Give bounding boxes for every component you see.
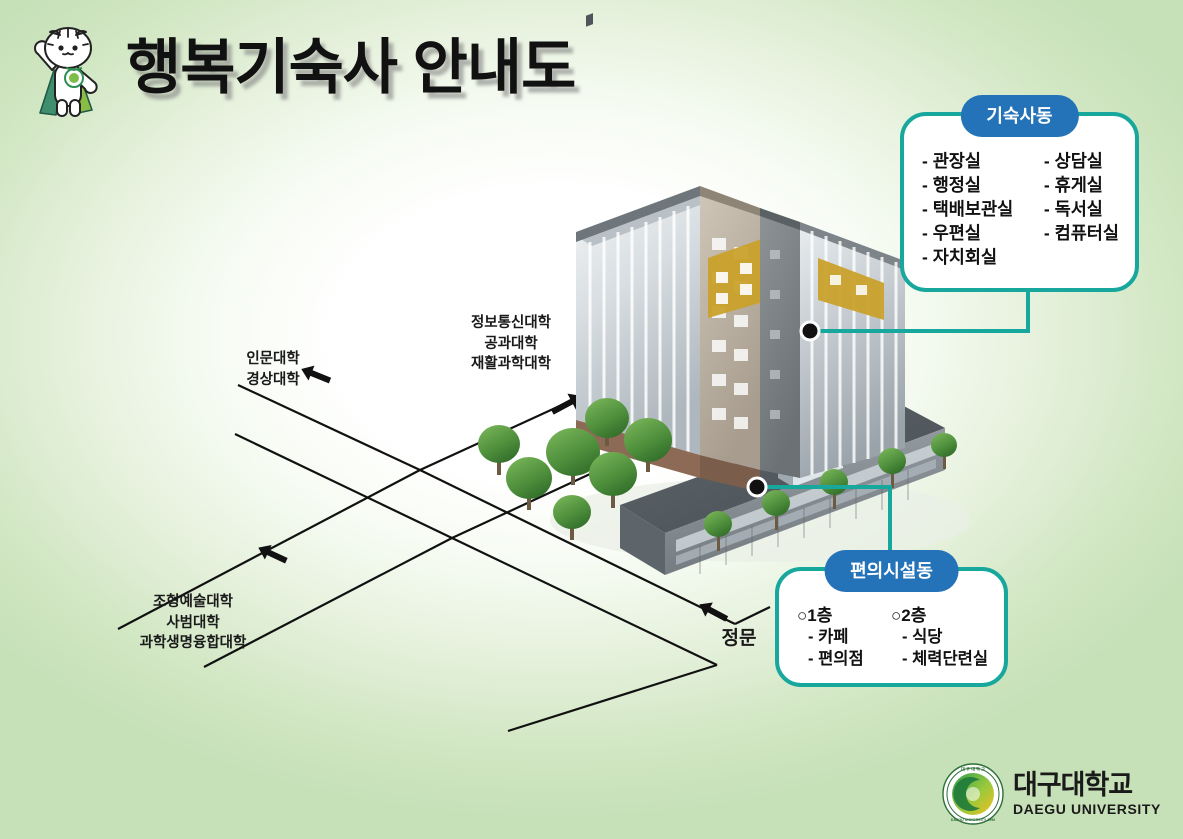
dormitory-item: - 택배보관실 [922,198,1030,221]
arrow-gate-icon [696,597,731,626]
daegu-university-seal-icon: 대 구 대 학 교 DAEGU UNIVERSITY 1956 [942,763,1004,825]
dormitory-item: - 행정실 [922,174,1030,197]
university-logo: 대 구 대 학 교 DAEGU UNIVERSITY 1956 대구대학교 DA… [942,763,1161,825]
callout-connectors [757,292,1028,578]
callout-convenience-header: 편의시설동 [824,550,959,592]
white-tiger-mascot-icon [22,18,114,126]
floor-item: - 카페 [797,627,885,649]
gold-accent-left [708,236,770,318]
floor-item: - 편의점 [797,649,885,671]
dormitory-tower [576,13,905,492]
road-label-line: 정보통신대학 [431,313,591,334]
svg-text:DAEGU UNIVERSITY 1956: DAEGU UNIVERSITY 1956 [951,818,995,822]
dormitory-column-1: - 관장실 - 행정실 - 택배보관실 - 우편실 - 자치회실 [922,150,1030,269]
connector-dormitory [810,292,1028,331]
road-label-line: 과학생명융합대학 [88,633,298,654]
page-title: 행복기숙사 안내도 [126,38,575,106]
arrow-southwest-icon [255,540,290,568]
logo-wordmark: 대구대학교 DAEGU UNIVERSITY [1013,772,1161,816]
road-label-line: 경상대학 [203,370,343,391]
callout-convenience: 편의시설동 ○1층 - 카페 - 편의점 ○2층 - 식당 - 체력단련실 [775,567,1008,687]
convenience-floor-2: ○2층 - 식당 - 체력단련실 [891,605,988,671]
callout-dormitory-header: 기숙사동 [960,95,1078,137]
dormitory-item: - 관장실 [922,150,1030,173]
road-label-arts-colleges: 조형예술대학 사범대학 과학생명융합대학 [88,592,298,654]
tree-cluster [478,398,957,551]
road-label-line: 사범대학 [88,613,298,634]
floor-label: ○2층 [891,605,988,627]
dormitory-item: - 독서실 [1044,198,1119,221]
road-label-line: 정문 [709,626,769,653]
dormitory-item: - 자치회실 [922,246,1030,269]
road-network [118,376,770,731]
dormitory-column-2: - 상담실 - 휴게실 - 독서실 - 컴퓨터실 [1044,150,1119,269]
dormitory-item: - 상담실 [1044,150,1119,173]
road-label-main-gate: 정문 [709,626,769,653]
logo-english: DAEGU UNIVERSITY [1013,802,1161,816]
dormitory-item: - 휴게실 [1044,174,1119,197]
floor-item: - 식당 [891,627,988,649]
marker-dormitory [801,322,819,340]
poster-root: 행복기숙사 안내도 정보통신대학 공과대학 재활과학대학 인문대학 경상대학 조… [0,0,1183,839]
road-label-line: 공과대학 [431,334,591,355]
callout-markers [748,322,819,496]
convenience-floor-1: ○1층 - 카페 - 편의점 [797,605,885,671]
map-arrows [255,362,731,626]
road-label-line: 조형예술대학 [88,592,298,613]
floor-item: - 체력단련실 [891,649,988,671]
road-label-it-colleges: 정보통신대학 공과대학 재활과학대학 [431,313,591,375]
callout-dormitory: 기숙사동 - 관장실 - 행정실 - 택배보관실 - 우편실 - 자치회실 - … [900,112,1139,292]
dormitory-item: - 컴퓨터실 [1044,222,1119,245]
road-label-line: 재활과학대학 [431,354,591,375]
floor-label: ○1층 [797,605,885,627]
callout-dormitory-body: - 관장실 - 행정실 - 택배보관실 - 우편실 - 자치회실 - 상담실 -… [904,116,1135,283]
marker-convenience [748,478,766,496]
road-label-humanities-colleges: 인문대학 경상대학 [203,349,343,390]
road-label-line: 인문대학 [203,349,343,370]
page-title-block: 행복기숙사 안내도 [22,18,575,126]
arrow-northeast-icon [548,388,586,420]
logo-korean: 대구대학교 [1013,772,1161,799]
dormitory-item: - 우편실 [922,222,1030,245]
gold-accent-right [818,258,884,320]
svg-text:대 구 대 학 교: 대 구 대 학 교 [961,766,985,773]
